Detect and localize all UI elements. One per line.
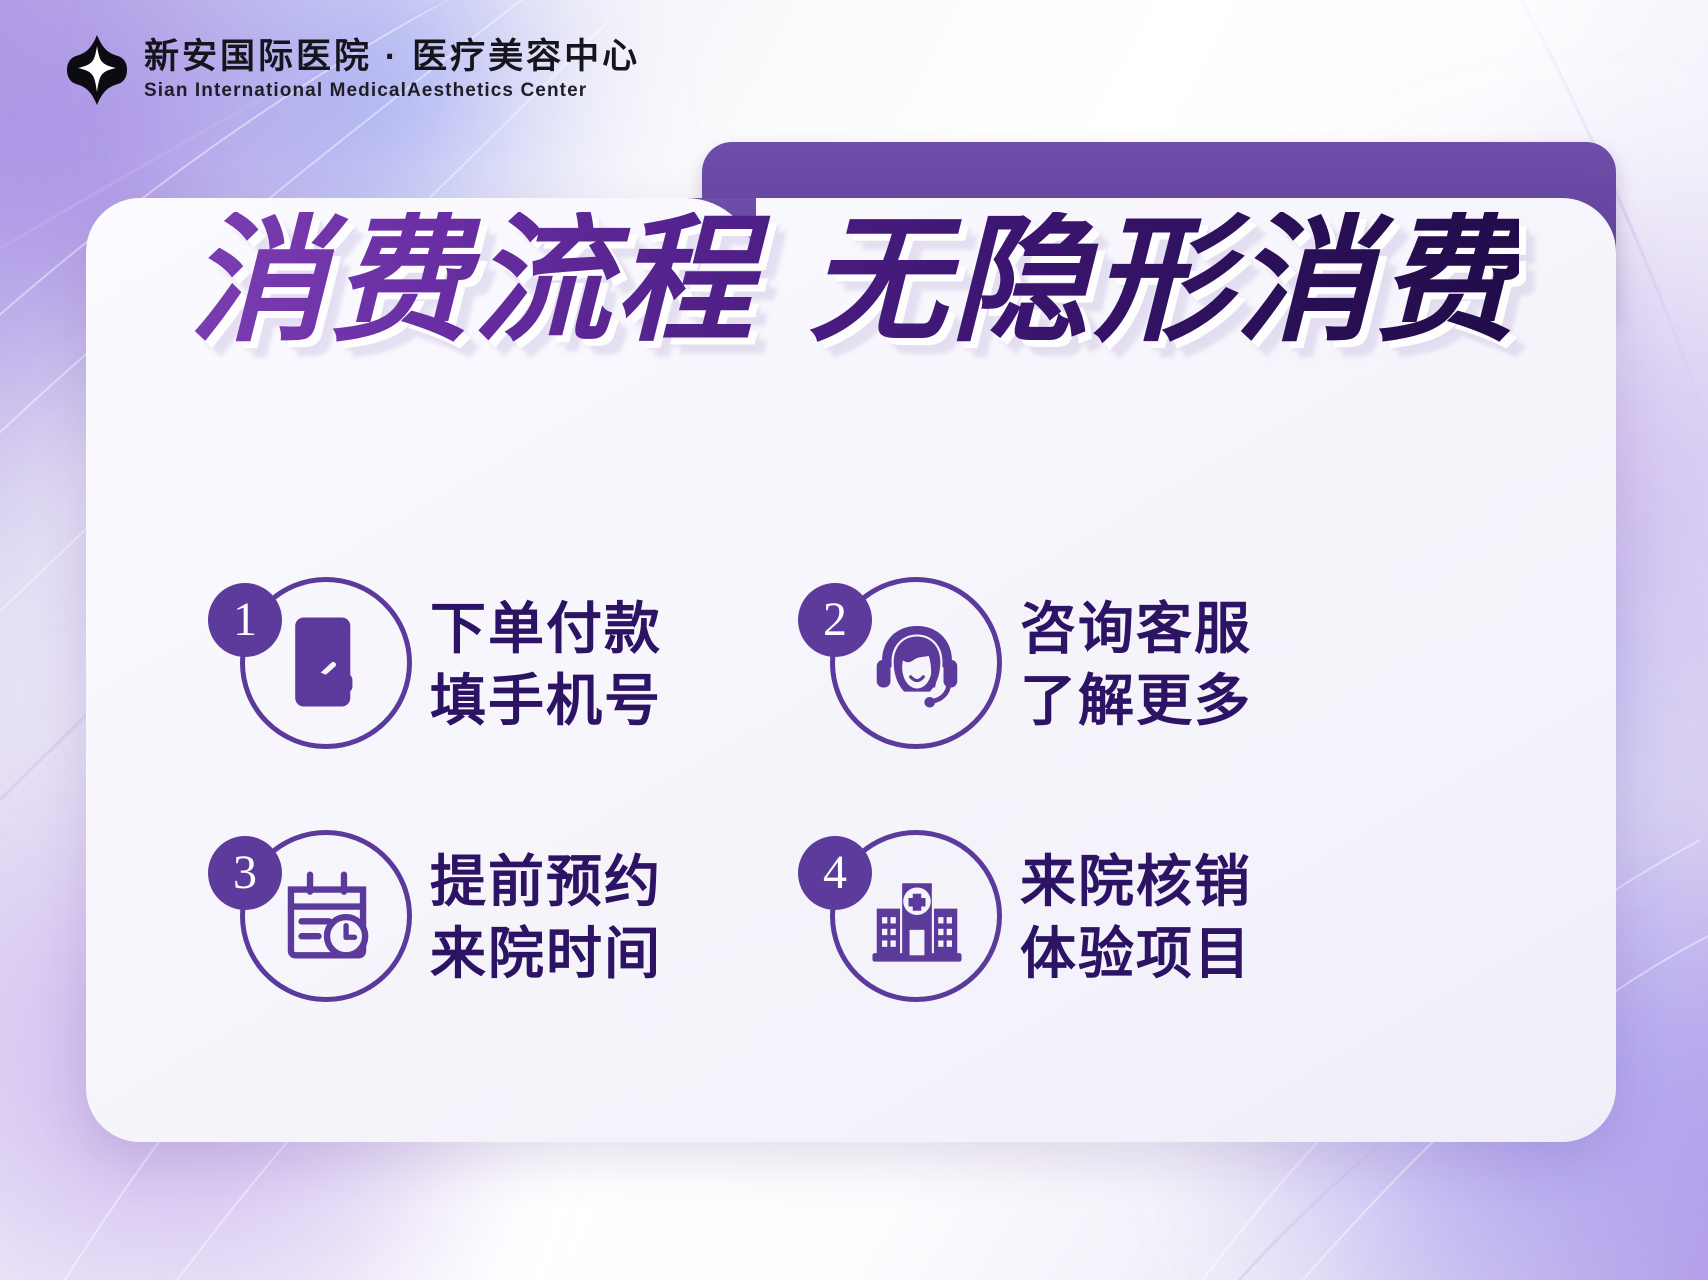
step-badge-group: 3 (208, 818, 418, 1018)
brand-header: 新安国际医院 · 医疗美容中心 Sian International Medic… (66, 34, 640, 106)
step-number-badge: 3 (208, 836, 282, 910)
step-label-line1: 提前预约 (430, 846, 662, 918)
step-label: 咨询客服 了解更多 (1020, 593, 1252, 736)
step-label-line2: 体验项目 (1020, 918, 1252, 990)
step-badge-group: 4 (798, 818, 1008, 1018)
step-badge-group: 2 (798, 565, 1008, 765)
phone-in-hand-icon (274, 609, 380, 715)
step-label-line2: 来院时间 (430, 918, 662, 990)
step-number-badge: 4 (798, 836, 872, 910)
step-label-line2: 了解更多 (1020, 665, 1252, 737)
step-label-line1: 咨询客服 (1020, 593, 1252, 665)
poster-canvas: 新安国际医院 · 医疗美容中心 Sian International Medic… (0, 0, 1708, 1280)
hospital-building-icon (864, 862, 970, 968)
step-number-badge: 1 (208, 583, 282, 657)
brand-name-en: Sian International MedicalAesthetics Cen… (144, 79, 640, 104)
step-label: 来院核销 体验项目 (1020, 846, 1252, 989)
steps-grid: 1 下单付款 填手机号 2 (208, 540, 1388, 1040)
step-item: 3 (208, 796, 798, 1040)
step-item: 2 (798, 540, 1388, 790)
step-label-line2: 填手机号 (430, 665, 662, 737)
brand-name-cn: 新安国际医院 · 医疗美容中心 (144, 37, 640, 76)
customer-service-headset-icon (864, 609, 970, 715)
step-label-line1: 下单付款 (430, 593, 662, 665)
step-item: 1 下单付款 填手机号 (208, 540, 798, 790)
step-label-line1: 来院核销 (1020, 846, 1252, 918)
step-label: 下单付款 填手机号 (430, 593, 662, 736)
folder-tab-notch (686, 198, 756, 268)
step-badge-group: 1 (208, 565, 418, 765)
step-number-badge: 2 (798, 583, 872, 657)
step-item: 4 (798, 796, 1388, 1040)
four-point-star-diamond-logo-icon (66, 34, 128, 106)
calendar-clock-icon (274, 862, 380, 968)
step-label: 提前预约 来院时间 (430, 846, 662, 989)
